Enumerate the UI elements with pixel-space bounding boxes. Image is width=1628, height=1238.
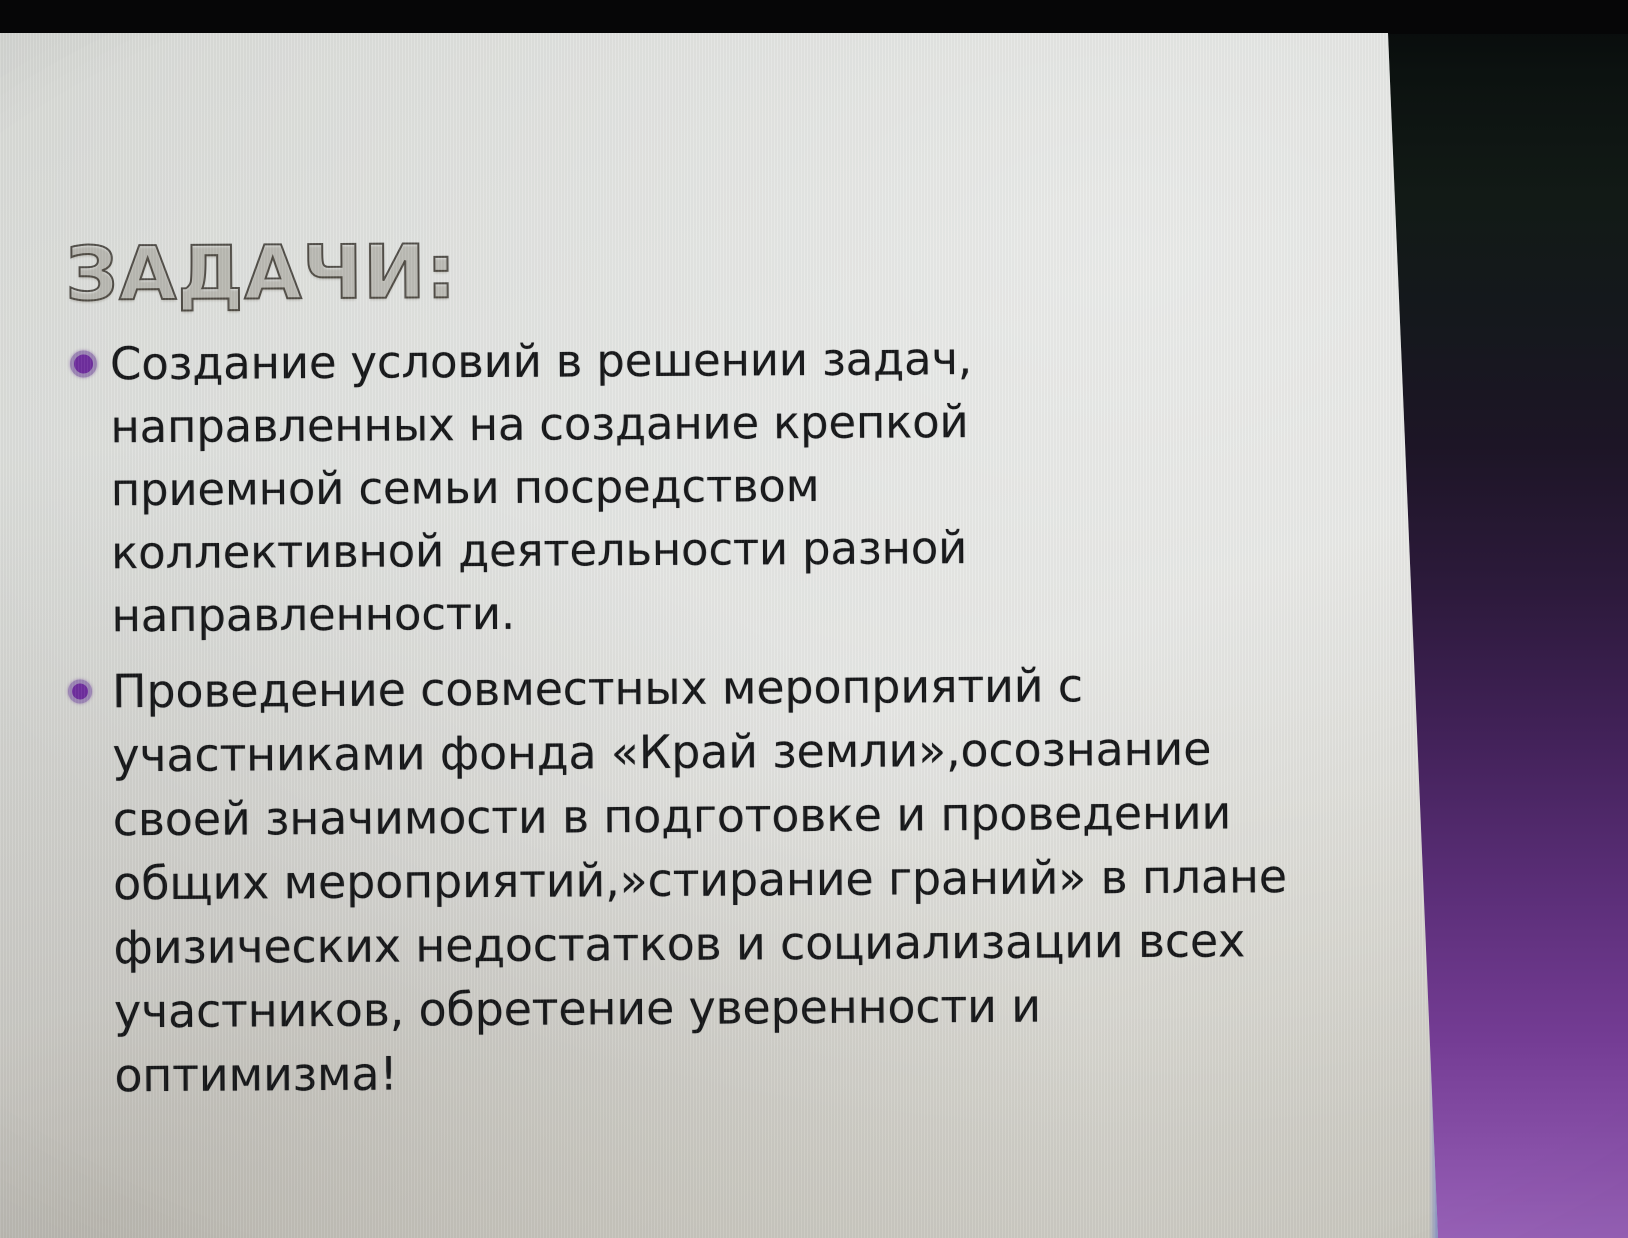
list-item: Создание условий в решении задач, направ… xyxy=(58,325,1300,648)
circle-dot-bullet-icon xyxy=(68,679,92,703)
page-title: ЗАДАЧИ: xyxy=(65,235,457,311)
top-black-band xyxy=(0,0,1628,34)
list-item-label: Проведение совместных мероприятий с учас… xyxy=(112,652,1303,1107)
objectives-list: Создание условий в решении задач, направ… xyxy=(58,325,1303,1108)
list-item-label: Создание условий в решении задач, направ… xyxy=(110,326,1112,647)
slide-content: ЗАДАЧИ: Создание условий в решении задач… xyxy=(0,33,1438,1238)
list-item: Проведение совместных мероприятий с учас… xyxy=(60,652,1303,1108)
projected-slide-photo: ЗАДАЧИ: Создание условий в решении задач… xyxy=(0,0,1628,1238)
circle-dot-bullet-icon xyxy=(70,350,97,377)
slide-surface: ЗАДАЧИ: Создание условий в решении задач… xyxy=(0,33,1438,1238)
